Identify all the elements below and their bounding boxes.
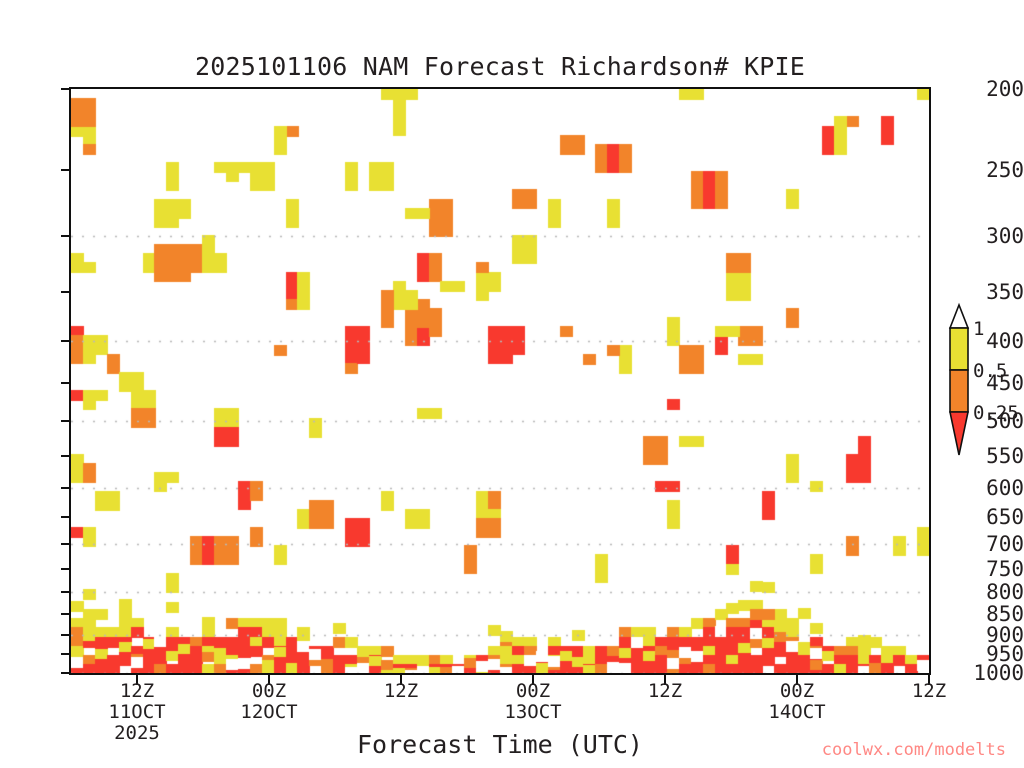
y-tick-mark-350	[61, 291, 70, 293]
y-tick-mark-800	[61, 591, 70, 593]
y-tick-mark-750	[61, 568, 70, 570]
colorbar-bottom-arrow	[950, 412, 968, 455]
y-tick-mark-400	[61, 340, 70, 342]
colorbar-label-05: 0.5	[973, 362, 1007, 381]
y-tick-mark-450	[61, 382, 70, 384]
colorbar-label-025: 0.25	[973, 404, 1019, 423]
colorbar-band-orange	[950, 370, 968, 412]
y-tick-mark-500	[61, 420, 70, 422]
colorbar-label-1: 1	[973, 320, 984, 339]
x-tick-label-6: 12Z	[859, 681, 999, 702]
y-tick-label-650: 650	[962, 507, 1024, 528]
x-tick-label-5: 00Z 14OCT	[727, 681, 867, 723]
chart-page: 2025101106 NAM Forecast Richardson# KPIE…	[0, 0, 1024, 768]
y-tick-mark-300	[61, 235, 70, 237]
y-tick-mark-650	[61, 516, 70, 518]
x-axis-title: Forecast Time (UTC)	[69, 730, 931, 759]
y-tick-mark-850	[61, 613, 70, 615]
x-tick-label-3: 00Z 13OCT	[463, 681, 603, 723]
y-tick-label-750: 750	[962, 559, 1024, 580]
x-tick-label-4: 12Z	[595, 681, 735, 702]
plot-area	[69, 87, 931, 675]
y-tick-mark-900	[61, 634, 70, 636]
x-tick-label-1: 00Z 12OCT	[199, 681, 339, 723]
y-tick-label-800: 800	[962, 582, 1024, 603]
colorbar-legend: 1 0.5 0.25	[940, 300, 1024, 480]
y-tick-label-850: 850	[962, 604, 1024, 625]
y-tick-mark-600	[61, 487, 70, 489]
colorbar-top-arrow	[950, 305, 968, 328]
y-tick-mark-700	[61, 543, 70, 545]
y-tick-mark-200	[61, 88, 70, 90]
y-tick-mark-1000	[61, 672, 70, 674]
colorbar-band-yellow	[950, 328, 968, 370]
y-tick-mark-250	[61, 169, 70, 171]
y-tick-label-250: 250	[962, 160, 1024, 181]
y-tick-label-600: 600	[962, 478, 1024, 499]
x-tick-label-2: 12Z	[331, 681, 471, 702]
y-tick-label-200: 200	[962, 79, 1024, 100]
y-tick-label-300: 300	[962, 226, 1024, 247]
page-title: 2025101106 NAM Forecast Richardson# KPIE	[0, 52, 1000, 81]
y-tick-mark-950	[61, 653, 70, 655]
y-tick-label-700: 700	[962, 534, 1024, 555]
richardson-heatmap	[71, 89, 929, 673]
y-tick-mark-550	[61, 455, 70, 457]
watermark: coolwx.com/modelts	[822, 740, 1006, 760]
